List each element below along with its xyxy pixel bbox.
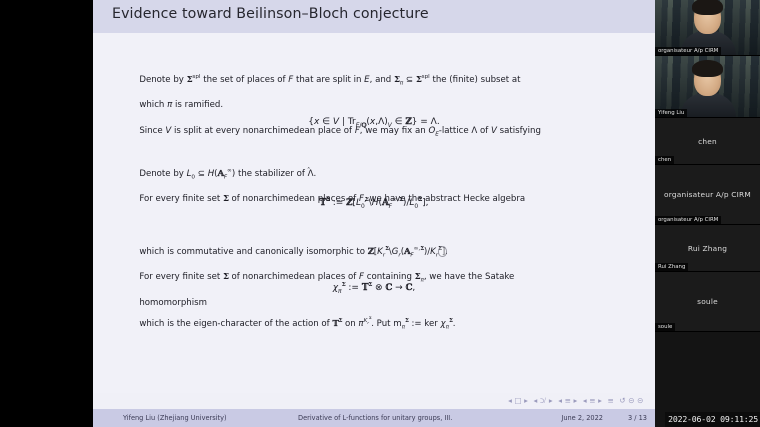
participant-tile-3[interactable]: organisateur A/p CIRM organisateur A/p C…	[655, 165, 760, 225]
nav-next-section-icon[interactable]: ▸	[598, 396, 602, 405]
beamer-navigation-symbols[interactable]: ◂□▸ ◂⟉▸ ◂≡▸ ◂≡▸ ≡ ↺⊝⊝	[507, 396, 645, 406]
slide-footer: Yifeng Liu (Zhejiang University) Derivat…	[93, 409, 655, 427]
nav-next-frame-icon[interactable]: ▸	[549, 396, 553, 405]
nav-back-icon[interactable]: ↺	[619, 396, 626, 405]
participant-name-label-4: Rui Zhang	[655, 263, 688, 272]
participant-tile-5[interactable]: soule soule	[655, 272, 760, 332]
nav-frame-icon[interactable]: ⟉	[540, 396, 547, 405]
nav-zoom-in-icon[interactable]: ⊝	[637, 396, 644, 405]
participant-name-5: soule	[697, 297, 718, 306]
screen-root: Evidence toward Beilinson–Bloch conjectu…	[0, 0, 760, 427]
nav-slide-icon[interactable]: □	[514, 396, 522, 405]
footer-author: Yifeng Liu (Zhejiang University)	[123, 414, 227, 422]
person-silhouette-1	[680, 63, 736, 117]
participant-rail[interactable]: organisateur A/p CIRM Yifeng Liu chen ch…	[655, 0, 760, 427]
participant-name-2: chen	[698, 137, 717, 146]
participant-tile-1[interactable]: Yifeng Liu	[655, 56, 760, 118]
participant-name-label-5: soule	[655, 323, 675, 332]
footer-page-number: 3 / 13	[628, 414, 647, 422]
participant-name-4: Rui Zhang	[688, 244, 727, 253]
nav-subsection-icon[interactable]: ≡	[565, 396, 572, 405]
participant-tile-4[interactable]: Rui Zhang Rui Zhang	[655, 225, 760, 272]
p1-line2: which π is ramified.	[139, 100, 223, 110]
footer-date: June 2, 2022	[561, 414, 603, 422]
mouse-cursor-artifact	[438, 246, 447, 257]
nav-section-icon[interactable]: ≡	[589, 396, 596, 405]
p1-line1: Denote by Σspl the set of places of F th…	[139, 75, 520, 85]
nav-zoom-out-icon[interactable]: ⊝	[628, 396, 635, 405]
paragraph-4: which is the eigen-character of the acti…	[112, 305, 641, 343]
slide-body: Denote by Σspl the set of places of F th…	[93, 33, 655, 393]
timestamp-overlay: 2022-06-02 09:11:25	[665, 412, 760, 427]
nav-next-slide-icon[interactable]: ▸	[524, 396, 528, 405]
participant-name-3: organisateur A/p CIRM	[664, 190, 751, 199]
equation-1: {x ∈ V | TrE/ℚ(x,Λ)V ∈ ℤ} = Λ.	[93, 117, 655, 127]
paragraph-1: Denote by Σspl the set of places of F th…	[112, 61, 641, 151]
participant-tile-2[interactable]: chen chen	[655, 118, 760, 165]
nav-prev-subsection-icon[interactable]: ◂	[558, 396, 562, 405]
participant-name-1: Yifeng Liu	[655, 109, 687, 118]
participant-name-label-2: chen	[655, 156, 674, 165]
slide[interactable]: Evidence toward Beilinson–Bloch conjectu…	[93, 0, 655, 427]
paragraph-2: Denote by L0 ⊆ H(𝔸F∞) the stabilizer of …	[112, 155, 641, 219]
p2-line1: Denote by L0 ⊆ H(𝔸F∞) the stabilizer of …	[139, 169, 316, 179]
nav-prev-frame-icon[interactable]: ◂	[534, 396, 538, 405]
presentation-stage[interactable]: Evidence toward Beilinson–Bloch conjectu…	[0, 0, 655, 427]
p4-line1: which is the eigen-character of the acti…	[139, 319, 455, 329]
nav-prev-section-icon[interactable]: ◂	[583, 396, 587, 405]
p3-line1: which is commutative and canonically iso…	[139, 247, 448, 257]
p1-line3: Since V is split at every nonarchimedean…	[139, 126, 541, 136]
slide-title-bar: Evidence toward Beilinson–Bloch conjectu…	[93, 0, 655, 33]
equation-3: χπΣ := 𝕋Σ ⊗ ℂ → ℂ,	[93, 283, 655, 293]
nav-toc-icon[interactable]: ≡	[607, 396, 614, 405]
nav-next-subsection-icon[interactable]: ▸	[573, 396, 577, 405]
page-title: Evidence toward Beilinson–Bloch conjectu…	[112, 6, 429, 22]
equation-2: 𝕋Σ := ℤ[L0Σ\H(𝔸F∞,Σ)/L0Σ],	[93, 198, 655, 208]
participant-name-label-3: organisateur A/p CIRM	[655, 216, 721, 225]
participant-name-0: organisateur A/p CIRM	[655, 47, 721, 56]
p3-line2: For every finite set Σ of nonarchimedean…	[139, 272, 514, 282]
footer-talk-title: Derivative of L-functions for unitary gr…	[298, 414, 452, 422]
nav-prev-slide-icon[interactable]: ◂	[508, 396, 512, 405]
participant-tile-0[interactable]: organisateur A/p CIRM	[655, 0, 760, 56]
